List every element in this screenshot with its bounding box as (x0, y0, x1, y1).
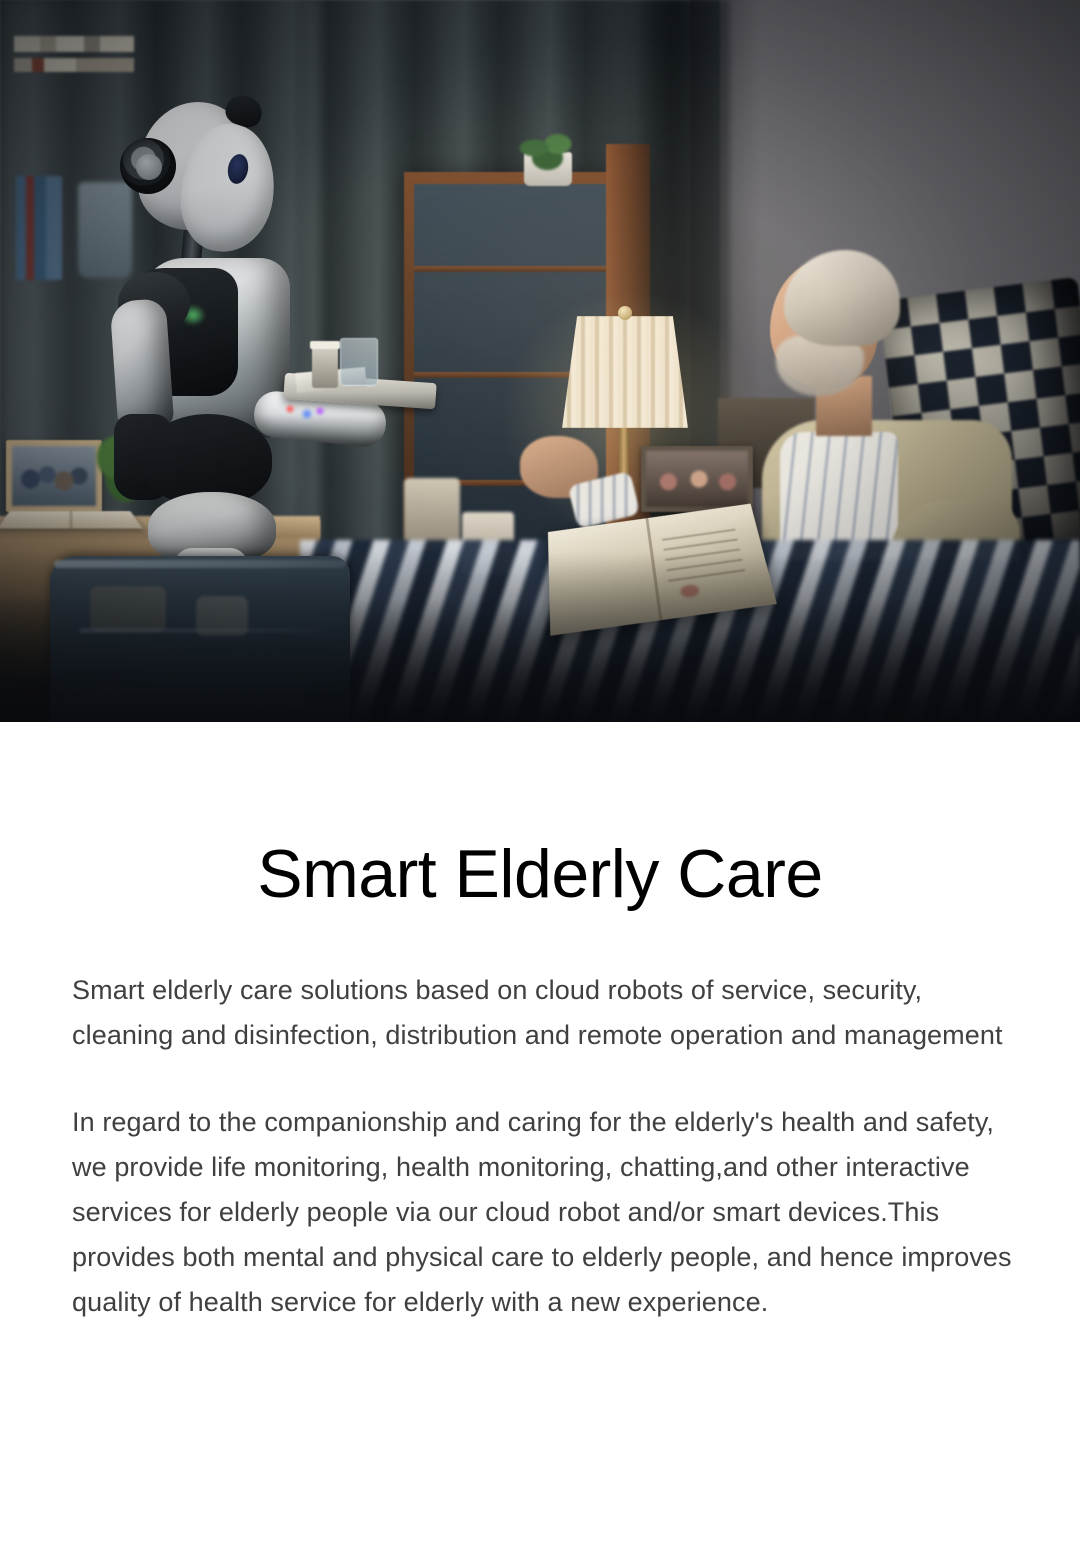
family-photo-frame (6, 440, 102, 512)
page-root: Smart Elderly Care Smart elderly care so… (0, 0, 1080, 1561)
shelf-plank (414, 266, 608, 272)
robot-upper-arm (110, 298, 175, 432)
water-glass (340, 338, 378, 386)
bed-rail-highlight (80, 628, 320, 633)
article-content: Smart Elderly Care Smart elderly care so… (0, 840, 1080, 1325)
lamp-finial (618, 306, 632, 320)
article-paragraph-2: In regard to the companionship and carin… (72, 1100, 1012, 1325)
bed-rail-highlight (54, 560, 346, 568)
bed-side-rail (50, 556, 350, 722)
robot-ear-lens (136, 154, 162, 180)
pill-bottle (312, 346, 338, 388)
status-led-red (284, 404, 296, 414)
shelf-books (14, 36, 134, 52)
hero-image (0, 0, 1080, 722)
table-lamp-shade (562, 316, 688, 428)
article-paragraph-1: Smart elderly care solutions based on cl… (72, 968, 1012, 1058)
page-title: Smart Elderly Care (0, 840, 1080, 908)
hair (784, 250, 900, 346)
shelf-books (16, 176, 62, 280)
article-body: Smart elderly care solutions based on cl… (68, 968, 1012, 1325)
book-text (662, 529, 747, 588)
bed-rail-cutout (90, 586, 166, 632)
status-led-blue (300, 408, 314, 420)
shelf-books (14, 58, 134, 72)
status-led-purple (314, 406, 326, 416)
hero-scene (0, 0, 1080, 722)
potted-plant (512, 128, 586, 178)
nightstand-photo-frame (641, 446, 753, 512)
book-stamp (680, 584, 700, 599)
